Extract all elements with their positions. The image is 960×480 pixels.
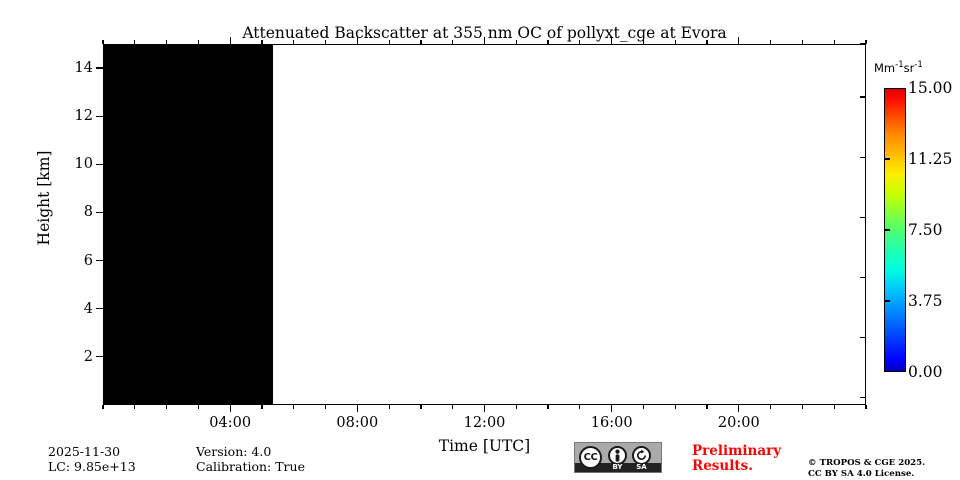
x-axis-tick-top: [547, 40, 548, 44]
x-axis-tick-bottom: [420, 405, 421, 409]
x-axis-tick-top: [738, 37, 739, 44]
colorbar-tick-label: 0.00: [908, 363, 943, 381]
x-axis-tick-top: [770, 40, 771, 44]
y-axis-tick-right: [860, 337, 866, 338]
footer-date: 2025-11-30: [48, 444, 120, 459]
x-axis-tick-bottom: [389, 405, 390, 409]
x-axis-tick-top: [611, 37, 612, 44]
y-axis-tick-label: 4: [45, 301, 93, 317]
y-axis-tick-left: [96, 116, 103, 117]
x-axis-tick-bottom: [198, 405, 199, 409]
y-axis-tick-label: 8: [45, 204, 93, 220]
circular-arrow-icon: [635, 449, 648, 462]
x-axis-tick-bottom: [770, 405, 771, 409]
y-axis-tick-right: [860, 397, 866, 398]
y-axis-tick-right: [860, 43, 866, 44]
x-axis-tick-bottom: [293, 405, 294, 409]
measured-data-block: [104, 45, 273, 404]
x-axis-tick-bottom: [834, 405, 835, 409]
cc-sa-label: SA: [629, 463, 654, 472]
preliminary-line-1: Preliminary: [692, 444, 781, 459]
colorbar-tick-label: 15.00: [908, 79, 952, 97]
x-axis-tick-top: [420, 40, 421, 44]
x-axis-tick-top: [643, 40, 644, 44]
x-axis-tick-bottom: [357, 405, 358, 412]
x-axis-tick-top: [389, 40, 390, 44]
x-axis-tick-label: 04:00: [209, 415, 251, 431]
x-axis-tick-bottom: [102, 405, 103, 409]
colorbar-unit-exp1: -1: [895, 60, 903, 70]
colorbar-tick: [884, 158, 890, 159]
x-axis-tick-label: 12:00: [464, 415, 506, 431]
preliminary-results-notice: Preliminary Results.: [692, 444, 781, 474]
copyright-line-2: CC BY SA 4.0 License.: [808, 469, 925, 480]
x-axis-tick-top: [134, 40, 135, 44]
x-axis-tick-bottom: [452, 405, 453, 409]
x-axis-tick-label: 20:00: [718, 415, 760, 431]
preliminary-line-2: Results.: [692, 459, 781, 474]
x-axis-tick-top: [166, 40, 167, 44]
x-axis-tick-bottom: [325, 405, 326, 409]
y-axis-tick-left: [96, 212, 103, 213]
colorbar-unit-base: Mm: [874, 61, 895, 75]
y-axis-tick-right: [860, 217, 866, 218]
colorbar-tick-label: 11.25: [908, 150, 952, 168]
copyright-notice: © TROPOS & CGE 2025. CC BY SA 4.0 Licens…: [808, 458, 925, 479]
colorbar-tick-label: 7.50: [908, 221, 943, 239]
x-axis-tick-bottom: [675, 405, 676, 409]
copyright-line-1: © TROPOS & CGE 2025.: [808, 458, 925, 469]
x-axis-tick-bottom: [547, 405, 548, 409]
x-axis-tick-top: [198, 40, 199, 44]
cc-by-label: BY: [605, 463, 630, 472]
y-axis-tick-label: 10: [45, 156, 93, 172]
colorbar-tick: [884, 229, 890, 230]
x-axis-tick-top: [261, 40, 262, 44]
x-axis-tick-bottom: [134, 405, 135, 409]
x-axis-tick-top: [102, 40, 103, 44]
y-axis-tick-left: [96, 308, 103, 309]
x-axis-tick-top: [293, 40, 294, 44]
x-axis-tick-top: [325, 40, 326, 44]
y-axis-tick-left: [96, 164, 103, 165]
colorbar-unit-exp2: -1: [914, 60, 922, 70]
y-axis-tick-label: 2: [45, 349, 93, 365]
y-axis-tick-label: 12: [45, 108, 93, 124]
x-axis-tick-bottom: [516, 405, 517, 409]
y-axis-tick-right: [860, 96, 866, 97]
x-axis-tick-top: [230, 37, 231, 44]
footer-lidar-constant: LC: 9.85e+13: [48, 459, 136, 474]
cc-logo-icon: CC: [579, 446, 602, 469]
x-axis-tick-bottom: [230, 405, 231, 412]
y-axis-tick-right: [860, 277, 866, 278]
x-axis-tick-top: [357, 37, 358, 44]
y-axis-tick-left: [96, 260, 103, 261]
x-axis-tick-bottom: [706, 405, 707, 409]
x-axis-tick-bottom: [484, 405, 485, 412]
x-axis-tick-bottom: [865, 405, 866, 409]
footer-version: Version: 4.0: [196, 444, 271, 459]
x-axis-tick-bottom: [166, 405, 167, 409]
colorbar-unit-mid: sr: [904, 61, 915, 75]
colorbar-tick-label: 3.75: [908, 292, 943, 310]
y-axis-tick-left: [96, 356, 103, 357]
x-axis-tick-bottom: [643, 405, 644, 409]
colorbar-tick: [884, 300, 890, 301]
colorbar-unit-label: Mm-1sr-1: [874, 60, 923, 75]
x-axis-tick-bottom: [802, 405, 803, 409]
x-axis-tick-bottom: [261, 405, 262, 409]
x-axis-tick-top: [484, 37, 485, 44]
x-axis-tick-bottom: [579, 405, 580, 409]
y-axis-tick-left: [96, 67, 103, 68]
y-axis-tick-label: 6: [45, 253, 93, 269]
heatmap-plot-area[interactable]: [103, 44, 866, 405]
y-axis-tick-label: 14: [45, 60, 93, 76]
person-icon: [612, 449, 623, 462]
x-axis-tick-bottom: [738, 405, 739, 412]
creative-commons-by-sa-icon: CC BY SA: [574, 442, 662, 473]
x-axis-tick-top: [579, 40, 580, 44]
x-axis-tick-top: [516, 40, 517, 44]
x-axis-tick-top: [706, 40, 707, 44]
figure-canvas: Attenuated Backscatter at 355 nm OC of p…: [0, 0, 960, 480]
x-axis-tick-top: [675, 40, 676, 44]
x-axis-tick-top: [834, 40, 835, 44]
x-axis-tick-label: 08:00: [336, 415, 378, 431]
x-axis-tick-top: [802, 40, 803, 44]
x-axis-tick-label: 16:00: [591, 415, 633, 431]
y-axis-tick-right: [860, 157, 866, 158]
x-axis-tick-bottom: [611, 405, 612, 412]
x-axis-tick-top: [452, 40, 453, 44]
footer-calibration: Calibration: True: [196, 459, 305, 474]
